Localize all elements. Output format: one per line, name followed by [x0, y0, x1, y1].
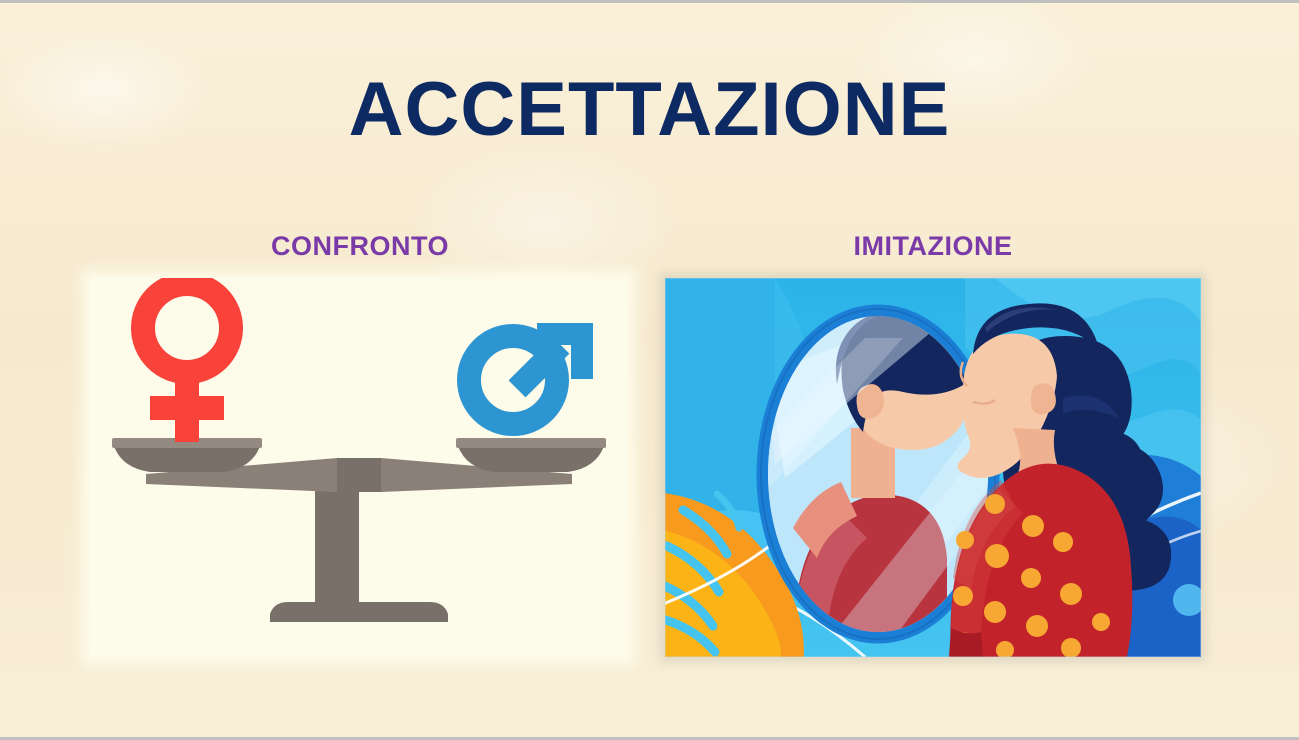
caption-confronto: CONFRONTO — [90, 231, 630, 262]
page-title: ACCETTAZIONE — [0, 66, 1299, 153]
illustration-mirror-scene — [665, 278, 1201, 657]
slide-top-border — [0, 0, 1299, 3]
caption-imitazione: IMITAZIONE — [665, 231, 1201, 262]
illustration-balance-scale — [90, 278, 628, 657]
slide-canvas: ACCETTAZIONE CONFRONTO IMITAZIONE — [0, 0, 1299, 740]
scale-pan-left — [112, 438, 262, 472]
scale-pan-right — [456, 438, 606, 472]
